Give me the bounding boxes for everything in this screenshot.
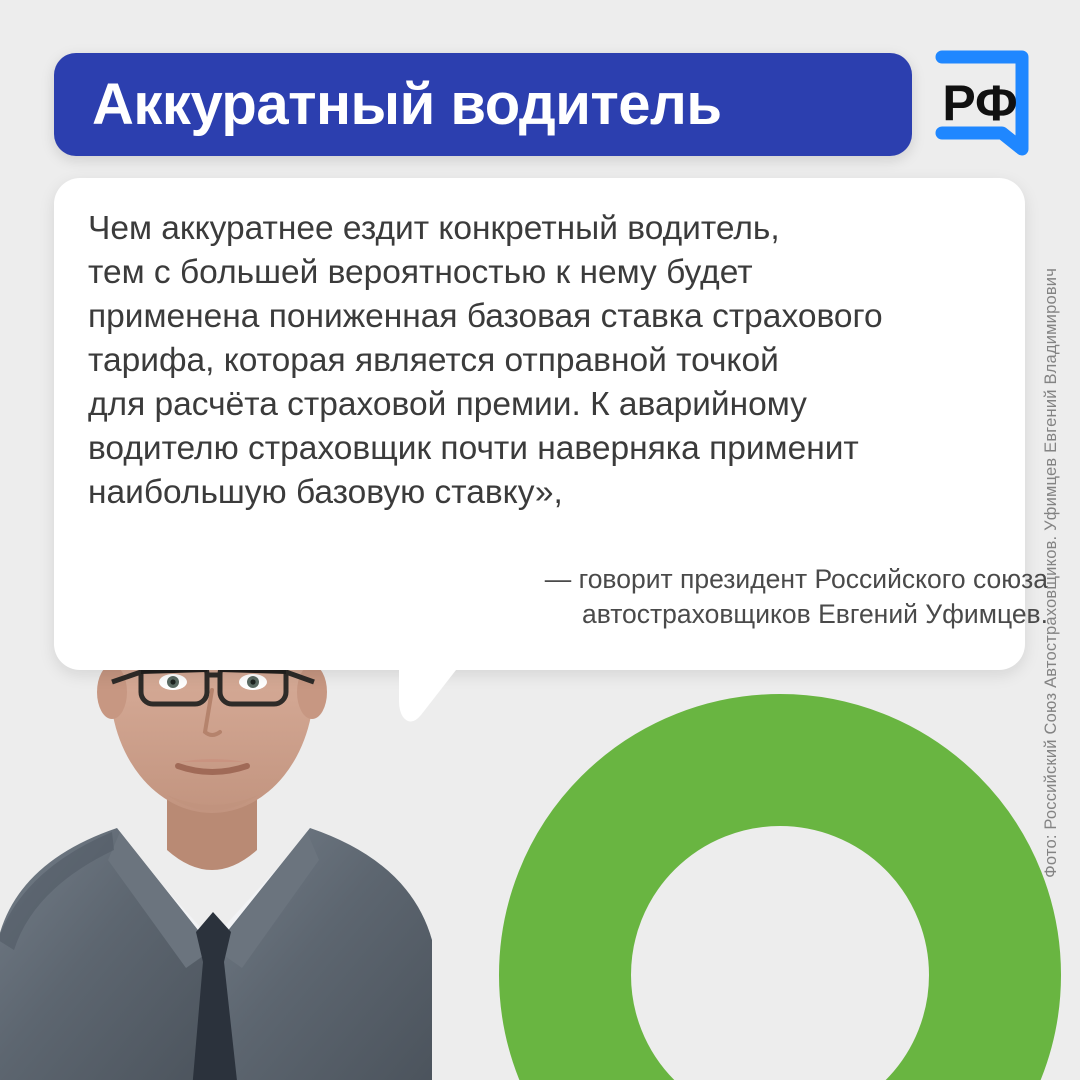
speech-bubble-tail <box>399 655 463 727</box>
photo-credit-text: Фото: Российский Союз Автостраховщиков. … <box>1042 268 1061 878</box>
quote-line-2: тем с большей вероятностью к нему будет <box>88 251 993 295</box>
quote-line-3: применена пониженная базовая ставка стра… <box>88 295 993 339</box>
photo-credit: Фото: Российский Союз Автостраховщиков. … <box>1034 178 1068 878</box>
attribution-line-2: автостраховщиков Евгений Уфимцев. <box>408 597 1048 632</box>
quote-line-1: Чем аккуратнее ездит конкретный водитель… <box>88 207 993 251</box>
rf-logo[interactable]: РФ <box>928 45 1036 167</box>
quote-line-4: тарифа, которая является отправной точко… <box>88 339 993 383</box>
infographic-canvas: Чем аккуратнее ездит конкретный водитель… <box>0 0 1080 1080</box>
quote-line-7: наибольшую базовую ставку», <box>88 471 993 515</box>
title-banner: Аккуратный водитель <box>54 53 912 156</box>
green-ring-circle <box>565 760 995 1080</box>
page-title: Аккуратный водитель <box>54 76 722 134</box>
quote-text: Чем аккуратнее ездит конкретный водитель… <box>88 207 993 515</box>
quote-line-6: водителю страховщик почти наверняка прим… <box>88 427 993 471</box>
quote-attribution: — говорит президент Российского союза ав… <box>408 562 1048 632</box>
attribution-line-1: — говорит президент Российского союза <box>408 562 1048 597</box>
quote-line-5: для расчёта страховой премии. К аварийно… <box>88 383 993 427</box>
rf-logo-text: РФ <box>942 75 1017 131</box>
